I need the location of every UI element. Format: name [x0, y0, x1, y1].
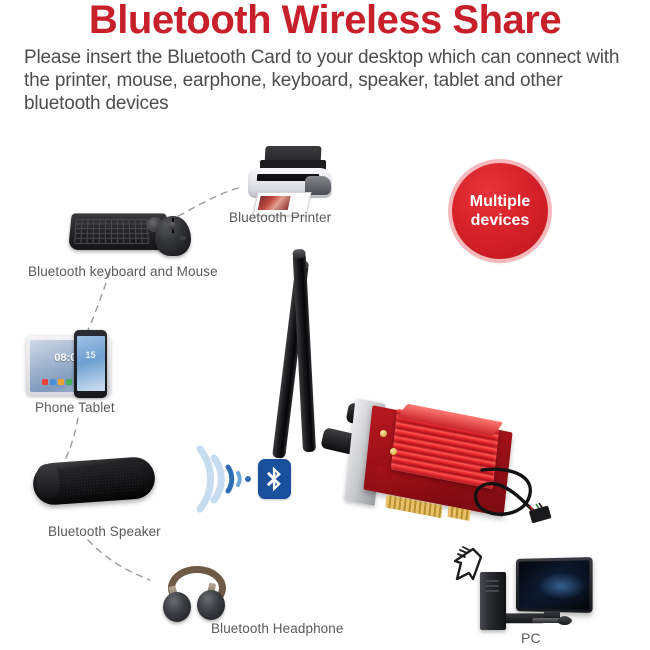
label-pc: PC — [521, 630, 541, 646]
bluetooth-logo-icon — [258, 459, 291, 499]
mouse-side-button — [179, 236, 186, 240]
antenna-right-tip — [292, 249, 305, 259]
wireless-waves-icon — [190, 443, 260, 515]
connector-keyboard-tablet — [88, 272, 110, 330]
connector-tablet-speaker — [64, 418, 78, 462]
keyboard-keys — [74, 219, 150, 244]
printed-photo-image — [258, 196, 291, 210]
usb-header-cable — [468, 456, 558, 536]
pc-illustration — [466, 556, 596, 634]
label-headphone: Bluetooth Headphone — [211, 621, 344, 636]
page-subtitle: Please insert the Bluetooth Card to your… — [24, 46, 630, 115]
badge-line-2: devices — [471, 212, 530, 229]
label-speaker: Bluetooth Speaker — [48, 524, 161, 539]
speaker-illustration — [33, 460, 155, 502]
antenna-connector-1 — [380, 430, 387, 437]
phone-screen-glyph: 15 — [77, 350, 105, 360]
antenna-connector-2 — [390, 448, 397, 455]
multiple-devices-badge: Multiple devices — [452, 163, 548, 259]
keyboard-illustration — [70, 212, 168, 252]
speaker-end-cap — [36, 463, 60, 498]
pc-tower — [480, 572, 506, 630]
label-keyboard-mouse: Bluetooth keyboard and Mouse — [28, 264, 218, 279]
infographic-canvas: Bluetooth Wireless Share Please insert t… — [0, 0, 650, 650]
phone-screen: 15 — [77, 336, 105, 391]
headphone-earcup-left — [163, 592, 191, 622]
headphone-illustration — [163, 566, 233, 628]
printer-illustration — [243, 146, 339, 214]
pc-monitor — [516, 557, 593, 613]
mouse-illustration — [155, 216, 191, 256]
phone-illustration: 15 — [74, 330, 107, 398]
pc-monitor-screen — [519, 560, 590, 610]
headphone-earcup-right — [197, 590, 225, 620]
pc-mouse — [558, 616, 571, 625]
page-title: Bluetooth Wireless Share — [0, 0, 650, 42]
label-printer: Bluetooth Printer — [229, 210, 331, 225]
label-phone-tablet: Phone Tablet — [35, 400, 115, 415]
pcie-bluetooth-card — [350, 390, 540, 540]
badge-line-1: Multiple — [470, 193, 530, 210]
connector-speaker-headphone — [88, 540, 150, 580]
mouse-scroll-wheel — [170, 222, 175, 230]
